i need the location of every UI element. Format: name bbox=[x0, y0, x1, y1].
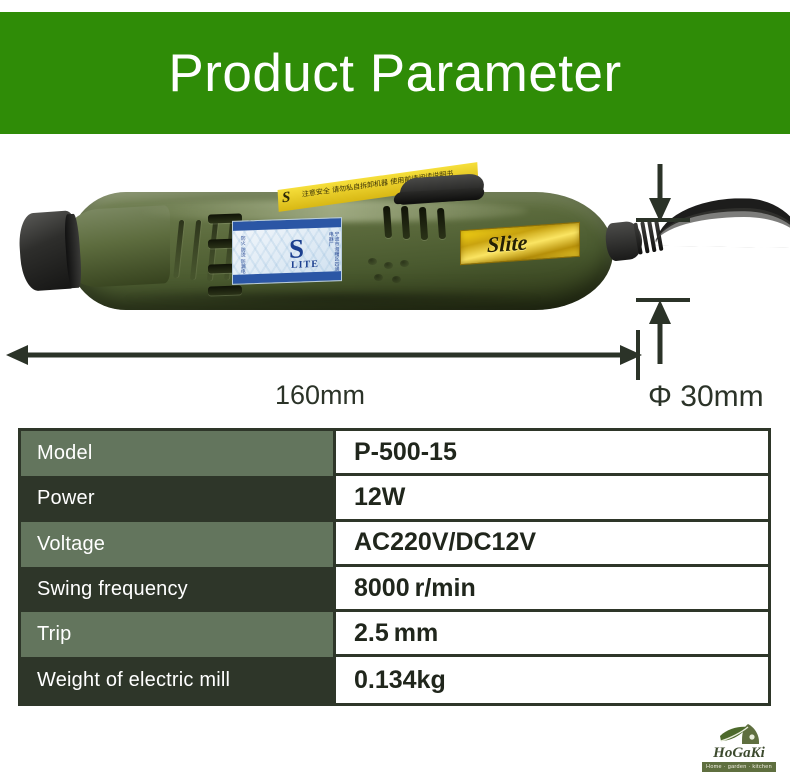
table-row: Model P-500-15 bbox=[21, 431, 768, 476]
label-cjk-right: 宁波市海曙区四通电器厂 bbox=[327, 231, 339, 273]
brand-logo: HoGaKi Home · garden · kitchen bbox=[700, 722, 778, 774]
logo-tagline-bar: Home · garden · kitchen bbox=[702, 762, 776, 772]
spec-value: P-500-15 bbox=[333, 431, 768, 476]
grip-dot bbox=[392, 276, 401, 283]
spec-value: 2.5 mm bbox=[333, 612, 768, 657]
page-title: Product Parameter bbox=[168, 47, 621, 100]
spec-value: 12W bbox=[333, 476, 768, 521]
header-banner: Product Parameter bbox=[0, 12, 790, 134]
tool-shadow bbox=[118, 290, 548, 306]
spec-value-text: 2.5 bbox=[354, 619, 389, 648]
label-top-bar bbox=[233, 218, 341, 231]
spec-key: Power bbox=[21, 476, 333, 521]
spec-value-unit: r/min bbox=[415, 574, 476, 603]
rotary-tool-illustration: S 注意安全 请勿私自拆卸机器 使用前请阅读说明书 防火 防烫 防漏电 宁波市海… bbox=[8, 162, 648, 332]
product-label: 防火 防烫 防漏电 宁波市海曙区四通电器厂 S LITE bbox=[232, 217, 342, 285]
grip-dot bbox=[374, 274, 383, 281]
vent-slot bbox=[208, 285, 242, 295]
spec-table: Model P-500-15 Power 12W Voltage AC220V/… bbox=[18, 428, 771, 706]
table-row: Trip 2.5 mm bbox=[21, 612, 768, 657]
spec-key: Weight of electric mill bbox=[21, 657, 333, 702]
logo-tagline: Home · garden · kitchen bbox=[706, 764, 772, 770]
table-row: Weight of electric mill 0.134kg bbox=[21, 657, 768, 702]
table-row: Swing frequency 8000 r/min bbox=[21, 567, 768, 612]
label-brand-lite: LITE bbox=[291, 260, 319, 271]
spec-key: Swing frequency bbox=[21, 567, 333, 612]
power-cable-highlight bbox=[654, 208, 790, 247]
label-cjk-left: 防火 防烫 防漏电 bbox=[239, 235, 245, 275]
spec-key: Trip bbox=[21, 612, 333, 657]
diameter-label: Φ 30mm bbox=[648, 380, 764, 414]
grip-dot bbox=[400, 260, 409, 267]
spec-value-text: P-500-15 bbox=[354, 438, 457, 467]
spec-value-text: 8000 bbox=[354, 574, 410, 603]
product-parameter-page: Product Parameter bbox=[0, 0, 790, 784]
table-row: Voltage AC220V/DC12V bbox=[21, 522, 768, 567]
spec-key: Model bbox=[21, 431, 333, 476]
length-dimension-arrow bbox=[6, 330, 642, 380]
logo-wordmark: HoGaKi bbox=[700, 746, 778, 761]
spec-value: AC220V/DC12V bbox=[333, 522, 768, 567]
spec-value-unit: mm bbox=[394, 619, 438, 648]
grip-dot bbox=[384, 262, 393, 269]
spec-value-text: 0.134kg bbox=[354, 666, 446, 695]
spec-value-text: AC220V/DC12V bbox=[354, 528, 536, 557]
length-label: 160mm bbox=[0, 380, 640, 411]
leaf-house-icon bbox=[718, 722, 762, 747]
spec-value: 0.134kg bbox=[333, 657, 768, 702]
spec-value: 8000 r/min bbox=[333, 567, 768, 612]
table-row: Power 12W bbox=[21, 476, 768, 521]
grip-dot bbox=[368, 258, 377, 265]
gold-badge-text: Slite bbox=[487, 229, 527, 258]
spec-value-text: 12W bbox=[354, 483, 405, 512]
spec-key: Voltage bbox=[21, 522, 333, 567]
